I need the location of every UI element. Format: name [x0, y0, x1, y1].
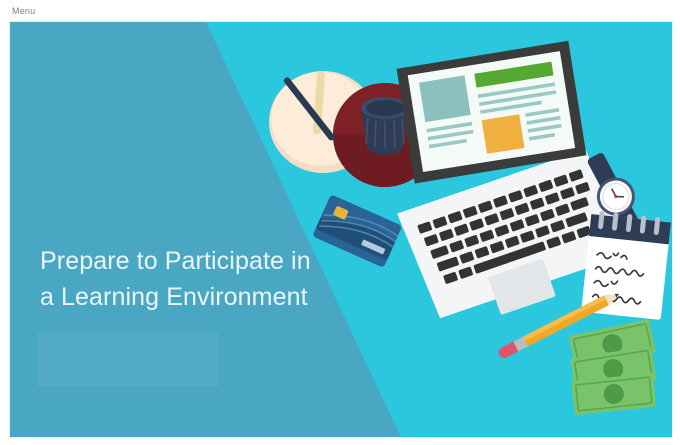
- app-frame: Menu: [0, 0, 680, 445]
- slide-title-line-1: Prepare to Participate in: [40, 244, 390, 280]
- banknotes-icon: [569, 319, 657, 415]
- menu-button[interactable]: Menu: [12, 7, 35, 16]
- slide-title: Prepare to Participate in a Learning Env…: [40, 244, 390, 315]
- menu-bar: Menu: [0, 0, 680, 22]
- subtitle-placeholder: [38, 332, 218, 387]
- slide-stage: Prepare to Participate in a Learning Env…: [10, 22, 672, 437]
- slide-title-line-2: a Learning Environment: [40, 280, 390, 316]
